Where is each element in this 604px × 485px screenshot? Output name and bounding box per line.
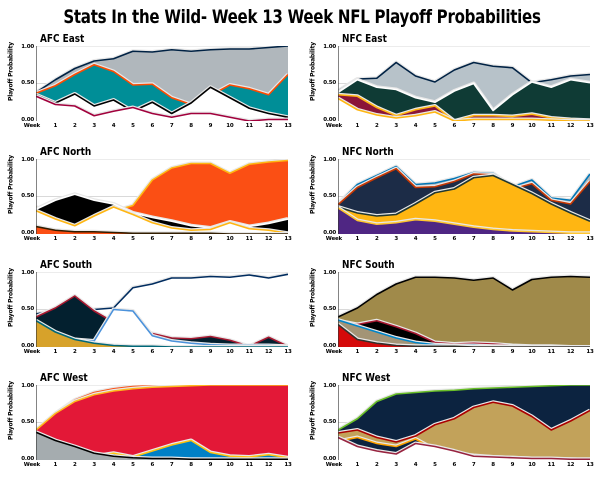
x-tick-label: 12 xyxy=(563,123,579,129)
x-tick-label: 6 xyxy=(446,349,462,355)
x-tick-label: 9 xyxy=(504,236,520,242)
x-tick-label: 8 xyxy=(485,236,501,242)
x-axis: Week12345678910111213 xyxy=(0,236,300,248)
x-tick-label: 12 xyxy=(261,349,277,355)
x-tick-label: 5 xyxy=(125,236,141,242)
x-tick-label: 13 xyxy=(280,123,296,129)
y-tick-label: 1.00 xyxy=(12,44,34,50)
x-tick-label: 4 xyxy=(408,349,424,355)
x-tick-label: 2 xyxy=(369,462,385,468)
x-tick-label: 9 xyxy=(504,349,520,355)
x-tick-label: 10 xyxy=(524,236,540,242)
x-axis: Week12345678910111213 xyxy=(302,123,602,135)
x-tick-label: 9 xyxy=(202,462,218,468)
x-tick-label: 7 xyxy=(164,462,180,468)
x-tick-label: 7 xyxy=(164,123,180,129)
x-tick-label: 9 xyxy=(202,349,218,355)
x-tick-label: 3 xyxy=(86,349,102,355)
x-tick-label: 3 xyxy=(388,123,404,129)
x-tick-label: 1 xyxy=(349,349,365,355)
x-tick-label: 13 xyxy=(582,349,598,355)
x-tick-label: 6 xyxy=(144,123,160,129)
x-tick-label: 13 xyxy=(280,236,296,242)
y-tick-label: 1.00 xyxy=(12,270,34,276)
x-tick-label: 2 xyxy=(369,123,385,129)
panel-title: AFC South xyxy=(40,258,92,271)
x-tick-label: 8 xyxy=(485,349,501,355)
x-tick-label: 4 xyxy=(106,349,122,355)
x-tick-label: 4 xyxy=(408,462,424,468)
panel-title: AFC East xyxy=(40,32,84,45)
x-tick-label: 8 xyxy=(183,462,199,468)
panel-title: NFC North xyxy=(342,145,394,158)
x-axis: Week12345678910111213 xyxy=(0,349,300,361)
panel-title: AFC West xyxy=(40,371,88,384)
x-tick-label: 9 xyxy=(202,236,218,242)
x-tick-label: 7 xyxy=(466,123,482,129)
x-tick-label: 3 xyxy=(86,123,102,129)
x-tick-label: 3 xyxy=(388,349,404,355)
panel-title: NFC West xyxy=(342,371,390,384)
plot-area xyxy=(36,272,288,347)
y-tick-label: 1.00 xyxy=(314,44,336,50)
x-tick-label: 11 xyxy=(241,462,257,468)
x-tick-label: 10 xyxy=(222,236,238,242)
x-tick-label: 13 xyxy=(280,462,296,468)
y-tick-label: 0.50 xyxy=(314,193,336,199)
x-tick-label: 13 xyxy=(582,462,598,468)
x-tick-label: 6 xyxy=(446,123,462,129)
x-tick-label: 3 xyxy=(388,462,404,468)
x-axis: Week12345678910111213 xyxy=(0,123,300,135)
x-tick-label: 13 xyxy=(582,123,598,129)
x-tick-label: 11 xyxy=(241,236,257,242)
x-tick-label: 4 xyxy=(408,236,424,242)
x-tick-label: 4 xyxy=(106,462,122,468)
x-axis: Week12345678910111213 xyxy=(302,236,602,248)
y-tick-label: 0.50 xyxy=(12,419,34,425)
y-tick-label: 0.50 xyxy=(12,193,34,199)
x-tick-label: 1 xyxy=(349,123,365,129)
x-tick-label: 5 xyxy=(125,123,141,129)
x-tick-label: 12 xyxy=(261,236,277,242)
x-tick-label: 7 xyxy=(466,349,482,355)
plot-area xyxy=(36,46,288,121)
x-tick-label: 11 xyxy=(241,123,257,129)
plot-area xyxy=(338,385,590,460)
plot-area xyxy=(36,385,288,460)
x-tick-label: 10 xyxy=(524,123,540,129)
x-tick-label: 3 xyxy=(86,236,102,242)
panel-afc-east: AFC EastPlayoff Probability1.000.500.00W… xyxy=(0,30,302,143)
x-tick-label: 3 xyxy=(86,462,102,468)
x-axis: Week12345678910111213 xyxy=(302,349,602,361)
x-tick-label: 5 xyxy=(427,462,443,468)
x-axis: Week12345678910111213 xyxy=(302,462,602,474)
x-axis-week-label: Week xyxy=(316,349,342,355)
x-tick-label: 8 xyxy=(183,349,199,355)
x-tick-label: 6 xyxy=(446,236,462,242)
x-tick-label: 6 xyxy=(144,236,160,242)
x-tick-label: 1 xyxy=(47,236,63,242)
x-tick-label: 2 xyxy=(369,349,385,355)
x-tick-label: 2 xyxy=(67,236,83,242)
x-tick-label: 10 xyxy=(222,123,238,129)
y-tick-label: 0.50 xyxy=(12,306,34,312)
x-tick-label: 10 xyxy=(222,462,238,468)
plot-area xyxy=(338,46,590,121)
panel-afc-south: AFC SouthPlayoff Probability1.000.500.00… xyxy=(0,256,302,369)
page-title: Stats In the Wild- Week 13 Week NFL Play… xyxy=(36,0,568,30)
x-tick-label: 6 xyxy=(144,349,160,355)
x-tick-label: 12 xyxy=(261,462,277,468)
x-tick-label: 2 xyxy=(369,236,385,242)
y-tick-label: 1.00 xyxy=(314,270,336,276)
plot-area xyxy=(338,272,590,347)
panel-title: NFC South xyxy=(342,258,395,271)
panel-nfc-east: NFC EastPlayoff Probability1.000.500.00W… xyxy=(302,30,604,143)
x-tick-label: 11 xyxy=(543,462,559,468)
x-tick-label: 12 xyxy=(563,462,579,468)
x-tick-label: 7 xyxy=(164,236,180,242)
y-tick-label: 1.00 xyxy=(314,157,336,163)
x-tick-label: 10 xyxy=(222,349,238,355)
x-tick-label: 11 xyxy=(543,236,559,242)
panel-nfc-north: NFC NorthPlayoff Probability1.000.500.00… xyxy=(302,143,604,256)
x-tick-label: 10 xyxy=(524,349,540,355)
x-tick-label: 7 xyxy=(164,349,180,355)
y-tick-label: 0.50 xyxy=(12,80,34,86)
x-tick-label: 9 xyxy=(504,123,520,129)
x-tick-label: 7 xyxy=(466,462,482,468)
panel-nfc-west: NFC WestPlayoff Probability1.000.500.00W… xyxy=(302,369,604,485)
x-tick-label: 8 xyxy=(183,123,199,129)
x-axis-week-label: Week xyxy=(316,123,342,129)
x-tick-label: 12 xyxy=(563,349,579,355)
x-tick-label: 11 xyxy=(241,349,257,355)
x-tick-label: 7 xyxy=(466,236,482,242)
x-axis-week-label: Week xyxy=(14,349,40,355)
y-tick-label: 0.50 xyxy=(314,80,336,86)
x-tick-label: 1 xyxy=(349,236,365,242)
panel-grid: AFC EastPlayoff Probability1.000.500.00W… xyxy=(0,30,604,485)
x-tick-label: 3 xyxy=(388,236,404,242)
x-tick-label: 2 xyxy=(67,349,83,355)
x-tick-label: 11 xyxy=(543,123,559,129)
y-tick-label: 0.50 xyxy=(314,306,336,312)
x-tick-label: 4 xyxy=(106,236,122,242)
x-tick-label: 8 xyxy=(183,236,199,242)
plot-area xyxy=(338,159,590,234)
panel-nfc-south: NFC SouthPlayoff Probability1.000.500.00… xyxy=(302,256,604,369)
x-axis-week-label: Week xyxy=(14,236,40,242)
x-tick-label: 13 xyxy=(280,349,296,355)
x-tick-label: 10 xyxy=(524,462,540,468)
x-tick-label: 5 xyxy=(125,462,141,468)
x-tick-label: 9 xyxy=(504,462,520,468)
plot-area xyxy=(36,159,288,234)
x-tick-label: 6 xyxy=(446,462,462,468)
x-tick-label: 1 xyxy=(47,123,63,129)
x-tick-label: 11 xyxy=(543,349,559,355)
panel-title: AFC North xyxy=(40,145,91,158)
y-tick-label: 1.00 xyxy=(12,157,34,163)
x-tick-label: 12 xyxy=(563,236,579,242)
x-tick-label: 5 xyxy=(125,349,141,355)
x-axis-week-label: Week xyxy=(14,123,40,129)
y-tick-label: 1.00 xyxy=(314,383,336,389)
y-tick-label: 0.50 xyxy=(314,419,336,425)
x-tick-label: 5 xyxy=(427,349,443,355)
x-tick-label: 5 xyxy=(427,123,443,129)
x-axis: Week12345678910111213 xyxy=(0,462,300,474)
y-tick-label: 1.00 xyxy=(12,383,34,389)
x-tick-label: 2 xyxy=(67,462,83,468)
x-tick-label: 9 xyxy=(202,123,218,129)
panel-afc-north: AFC NorthPlayoff Probability1.000.500.00… xyxy=(0,143,302,256)
panel-afc-west: AFC WestPlayoff Probability1.000.500.00W… xyxy=(0,369,302,485)
panel-title: NFC East xyxy=(342,32,387,45)
x-axis-week-label: Week xyxy=(14,462,40,468)
x-tick-label: 12 xyxy=(261,123,277,129)
x-tick-label: 1 xyxy=(47,349,63,355)
x-tick-label: 1 xyxy=(47,462,63,468)
x-axis-week-label: Week xyxy=(316,462,342,468)
x-tick-label: 8 xyxy=(485,123,501,129)
x-tick-label: 8 xyxy=(485,462,501,468)
x-tick-label: 4 xyxy=(408,123,424,129)
x-axis-week-label: Week xyxy=(316,236,342,242)
x-tick-label: 2 xyxy=(67,123,83,129)
x-tick-label: 5 xyxy=(427,236,443,242)
x-tick-label: 4 xyxy=(106,123,122,129)
x-tick-label: 13 xyxy=(582,236,598,242)
x-tick-label: 1 xyxy=(349,462,365,468)
x-tick-label: 6 xyxy=(144,462,160,468)
